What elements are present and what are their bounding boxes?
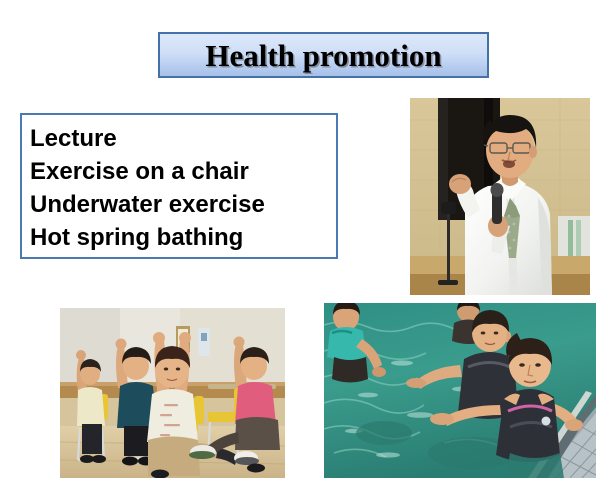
underwater-exercise-photo-graphic (324, 303, 596, 478)
program-list-box: Lecture Exercise on a chair Underwater e… (20, 113, 338, 259)
list-item: Hot spring bathing (30, 221, 336, 254)
list-item: Lecture (30, 122, 336, 155)
slide-title-banner: Health promotion (158, 32, 489, 78)
underwater-exercise-photo (324, 303, 596, 478)
lecture-photo-graphic (410, 98, 590, 295)
list-item: Underwater exercise (30, 188, 336, 221)
lecture-photo (410, 98, 590, 295)
list-item: Exercise on a chair (30, 155, 336, 188)
page-title: Health promotion (205, 40, 441, 71)
chair-exercise-photo (60, 308, 285, 478)
chair-exercise-photo-graphic (60, 308, 285, 478)
